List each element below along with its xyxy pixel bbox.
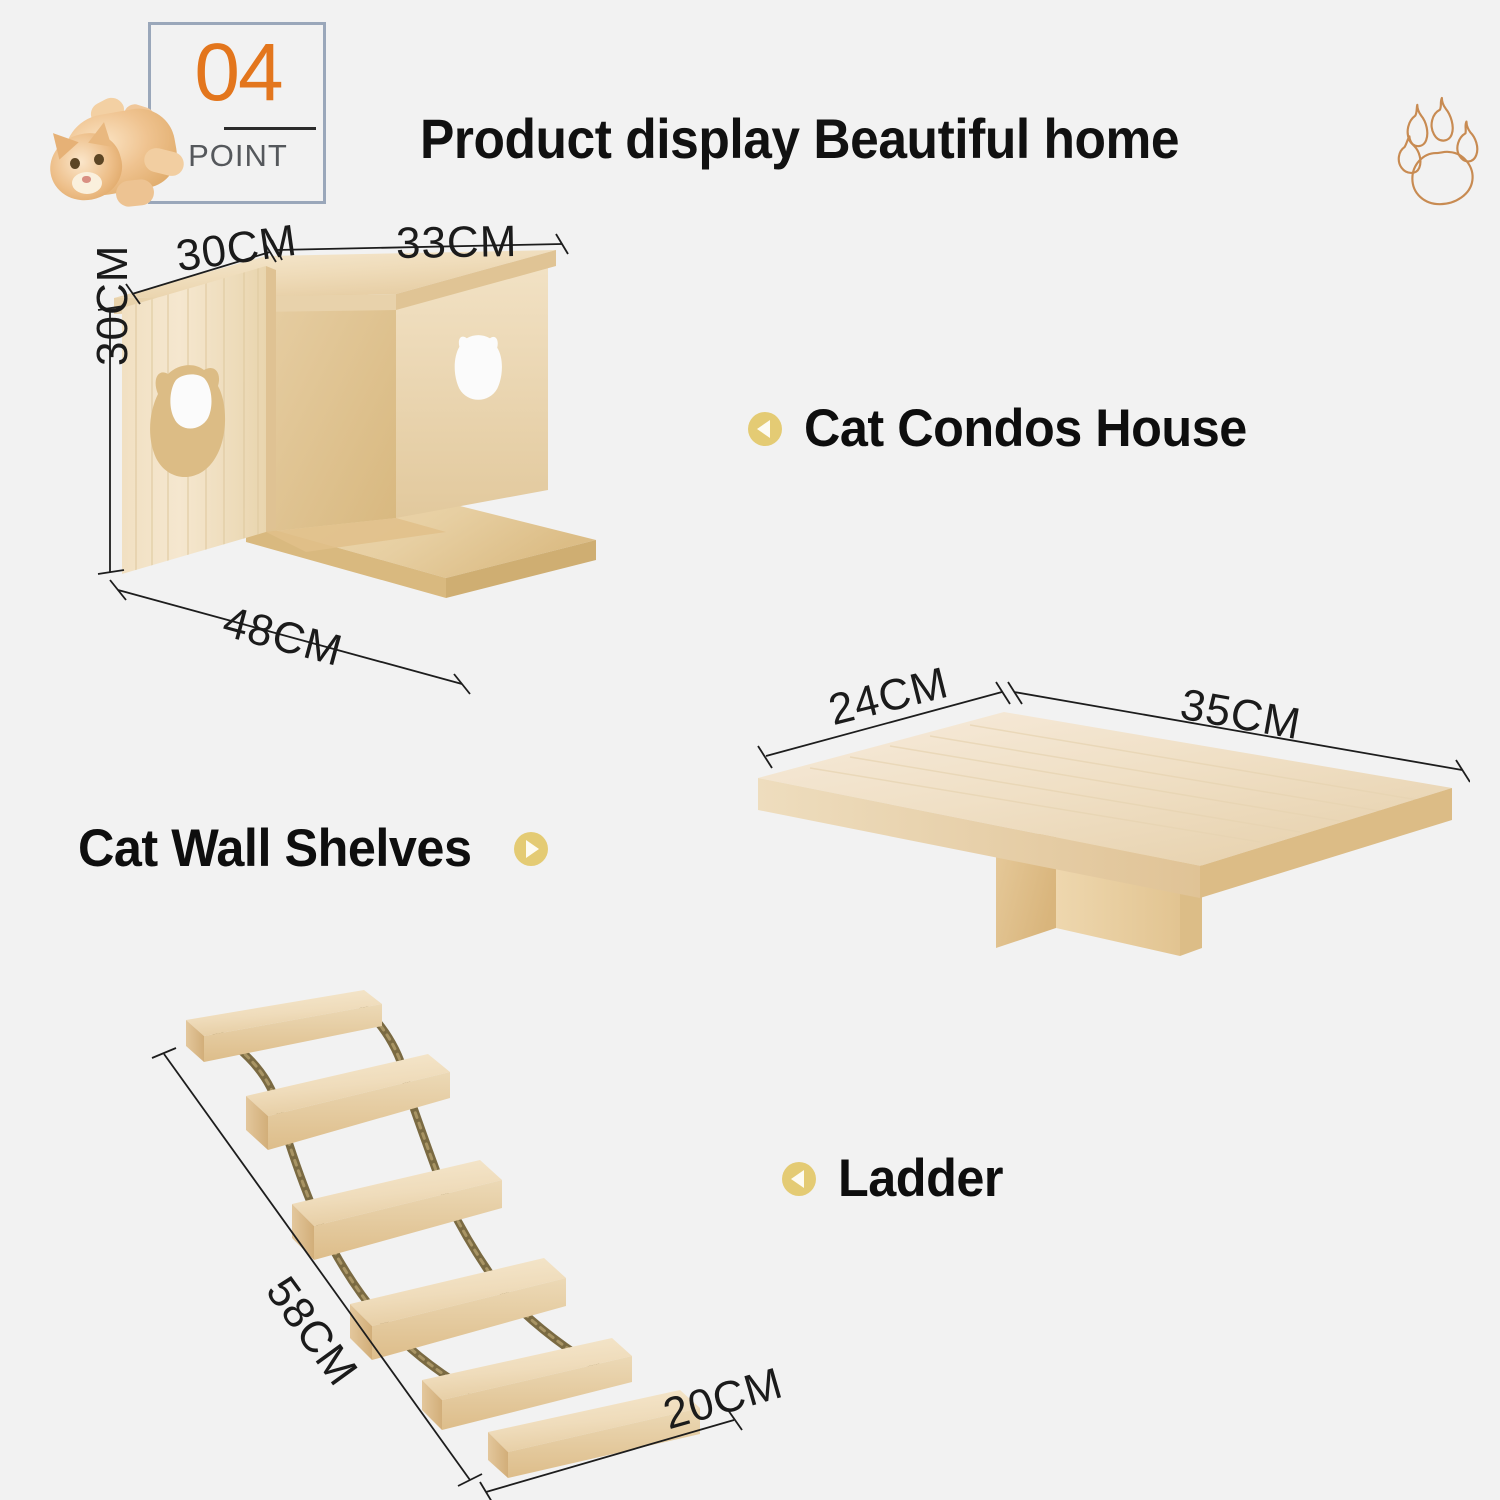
arrow-right-icon[interactable] [514,832,548,866]
dimension-condo-height: 30CM [88,245,138,366]
product-label-cat-condos-house: Cat Condos House [748,398,1270,459]
dimension-condo-width: 33CM [396,217,518,269]
point-label: POINT [158,140,318,171]
point-badge: 04 POINT [38,14,328,214]
paw-print-icon [1375,96,1493,214]
point-divider [224,127,316,130]
cat-condo-house-illustration [96,222,716,722]
product-name-cat-condos-house: Cat Condos House [804,398,1247,459]
page-title: Product display Beautiful home [420,106,1245,171]
product-display-page: 04 POINT Product display Beautiful home [0,0,1500,1500]
arrow-left-icon[interactable] [748,412,782,446]
ladder-step [186,990,382,1062]
product-name-ladder: Ladder [838,1148,1003,1209]
product-name-cat-wall-shelves: Cat Wall Shelves [78,818,471,879]
ladder-step [350,1258,566,1360]
product-label-cat-wall-shelves: Cat Wall Shelves [78,818,548,879]
point-number: 04 [158,32,318,114]
product-label-ladder: Ladder [782,1148,1012,1209]
arrow-left-icon[interactable] [782,1162,816,1196]
ladder-illustration [150,980,850,1500]
